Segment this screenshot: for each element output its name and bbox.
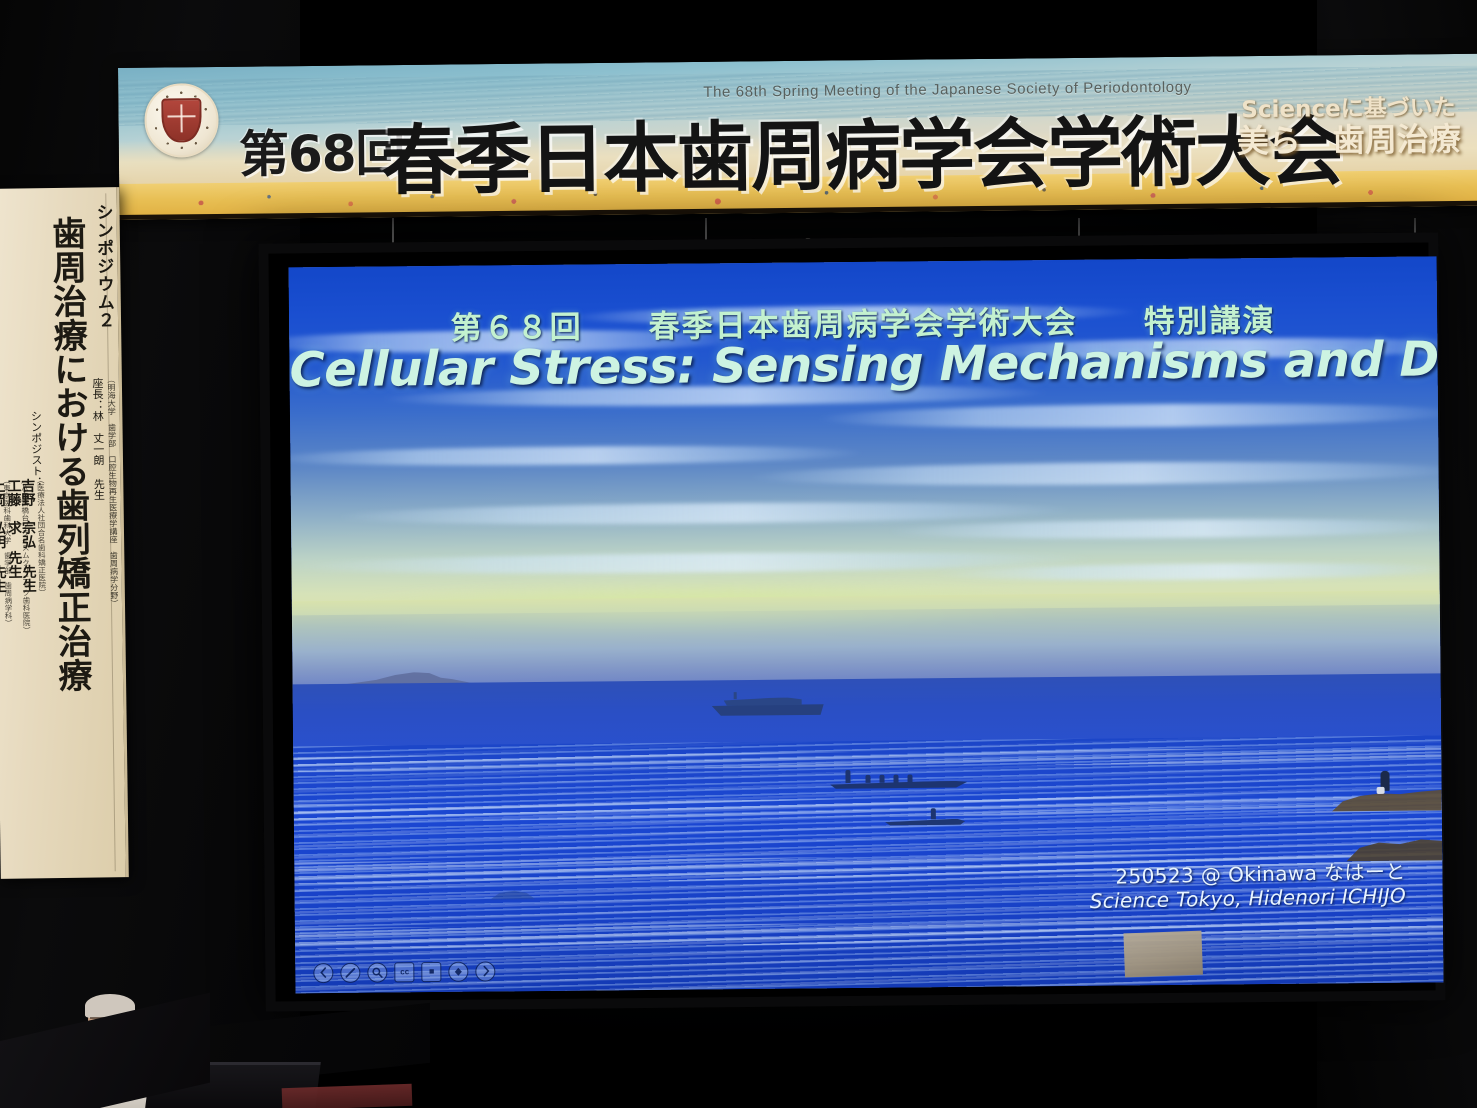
poster-speaker-2-affiliation: （八白高橋台プライスムクリニック歯科医院）: [21, 476, 31, 634]
kayak-silhouette: [885, 813, 965, 826]
banner-japanese-title: 春季日本歯周病学会学術大会: [380, 89, 1343, 209]
banner-theme-bottom: 美ら 歯周治療: [1237, 123, 1461, 159]
cruise-ship-silhouette: [712, 693, 824, 716]
ship-mast: [734, 692, 737, 699]
poster-session-title: 歯周治療における歯列矯正治療: [49, 216, 90, 692]
more-options-button[interactable]: [449, 962, 469, 982]
paddler-figure: [893, 774, 898, 782]
stage-reflection-panel: [1123, 931, 1203, 978]
kayak-hull: [885, 819, 965, 826]
person-on-rocks: [1380, 771, 1389, 791]
magnifier-button[interactable]: [368, 962, 388, 982]
paddler-figure: [865, 774, 870, 782]
powerpoint-presenter-toolbar[interactable]: cc ■: [314, 961, 496, 983]
poster-speaker-3-affiliation: （東京医科歯科大学 歯学部 歯周病学科）: [3, 477, 13, 627]
podium-area: [52, 988, 352, 1108]
stage-red-accent: [282, 1084, 413, 1108]
horizon-haze: [292, 590, 1441, 688]
projection-screen-frame: 第６８回 春季日本歯周病学会学術大会 特別講演 Cellular Stress:…: [258, 232, 1445, 1011]
projected-slide[interactable]: 第６８回 春季日本歯周病学会学術大会 特別講演 Cellular Stress:…: [289, 256, 1444, 993]
poster-chair-affiliation: （明海大学 歯学部 口腔生物再生医療学講座 歯周病学分野）: [107, 375, 118, 607]
kayaker-figure: [931, 808, 936, 819]
dragon-boat-silhouette: [827, 773, 967, 788]
banner-theme-badge: Scienceに基づいた 美ら 歯周治療: [1236, 96, 1461, 159]
pen-tool-button[interactable]: [341, 963, 361, 983]
slide-credit: 250523 @ Okinawa なはーと Science Tokyo, Hid…: [1089, 860, 1406, 913]
slide-title-english: Cellular Stress: Sensing Mechanisms and …: [289, 331, 1437, 398]
rock-lower: [1346, 833, 1442, 862]
poster-speaker-1-affiliation: （医療法人社団合名歯科矯正医院）: [37, 476, 46, 596]
next-slide-button[interactable]: [476, 961, 496, 981]
society-emblem-icon: [144, 83, 219, 158]
banner-hanging-wire: [392, 218, 394, 244]
subtitles-button[interactable]: cc: [395, 962, 415, 982]
paddler-figure: [845, 770, 850, 783]
poster-chair: 座長：林 丈一朗 先生: [92, 377, 105, 500]
previous-slide-button[interactable]: [314, 963, 334, 983]
banner-theme-top: Scienceに基づいた: [1236, 96, 1460, 122]
paddler-figure: [907, 774, 912, 782]
conference-banner: The 68th Spring Meeting of the Japanese …: [118, 54, 1477, 220]
all-slides-button[interactable]: ■: [422, 962, 442, 982]
poster-session-label: シンポジウム２: [93, 203, 112, 329]
session-poster: シンポジウム２ 歯周治療における歯列矯正治療 座長：林 丈一朗 先生 （明海大学…: [0, 187, 129, 879]
paddler-figure: [879, 774, 884, 782]
conference-hall-photo: The 68th Spring Meeting of the Japanese …: [0, 0, 1477, 1108]
